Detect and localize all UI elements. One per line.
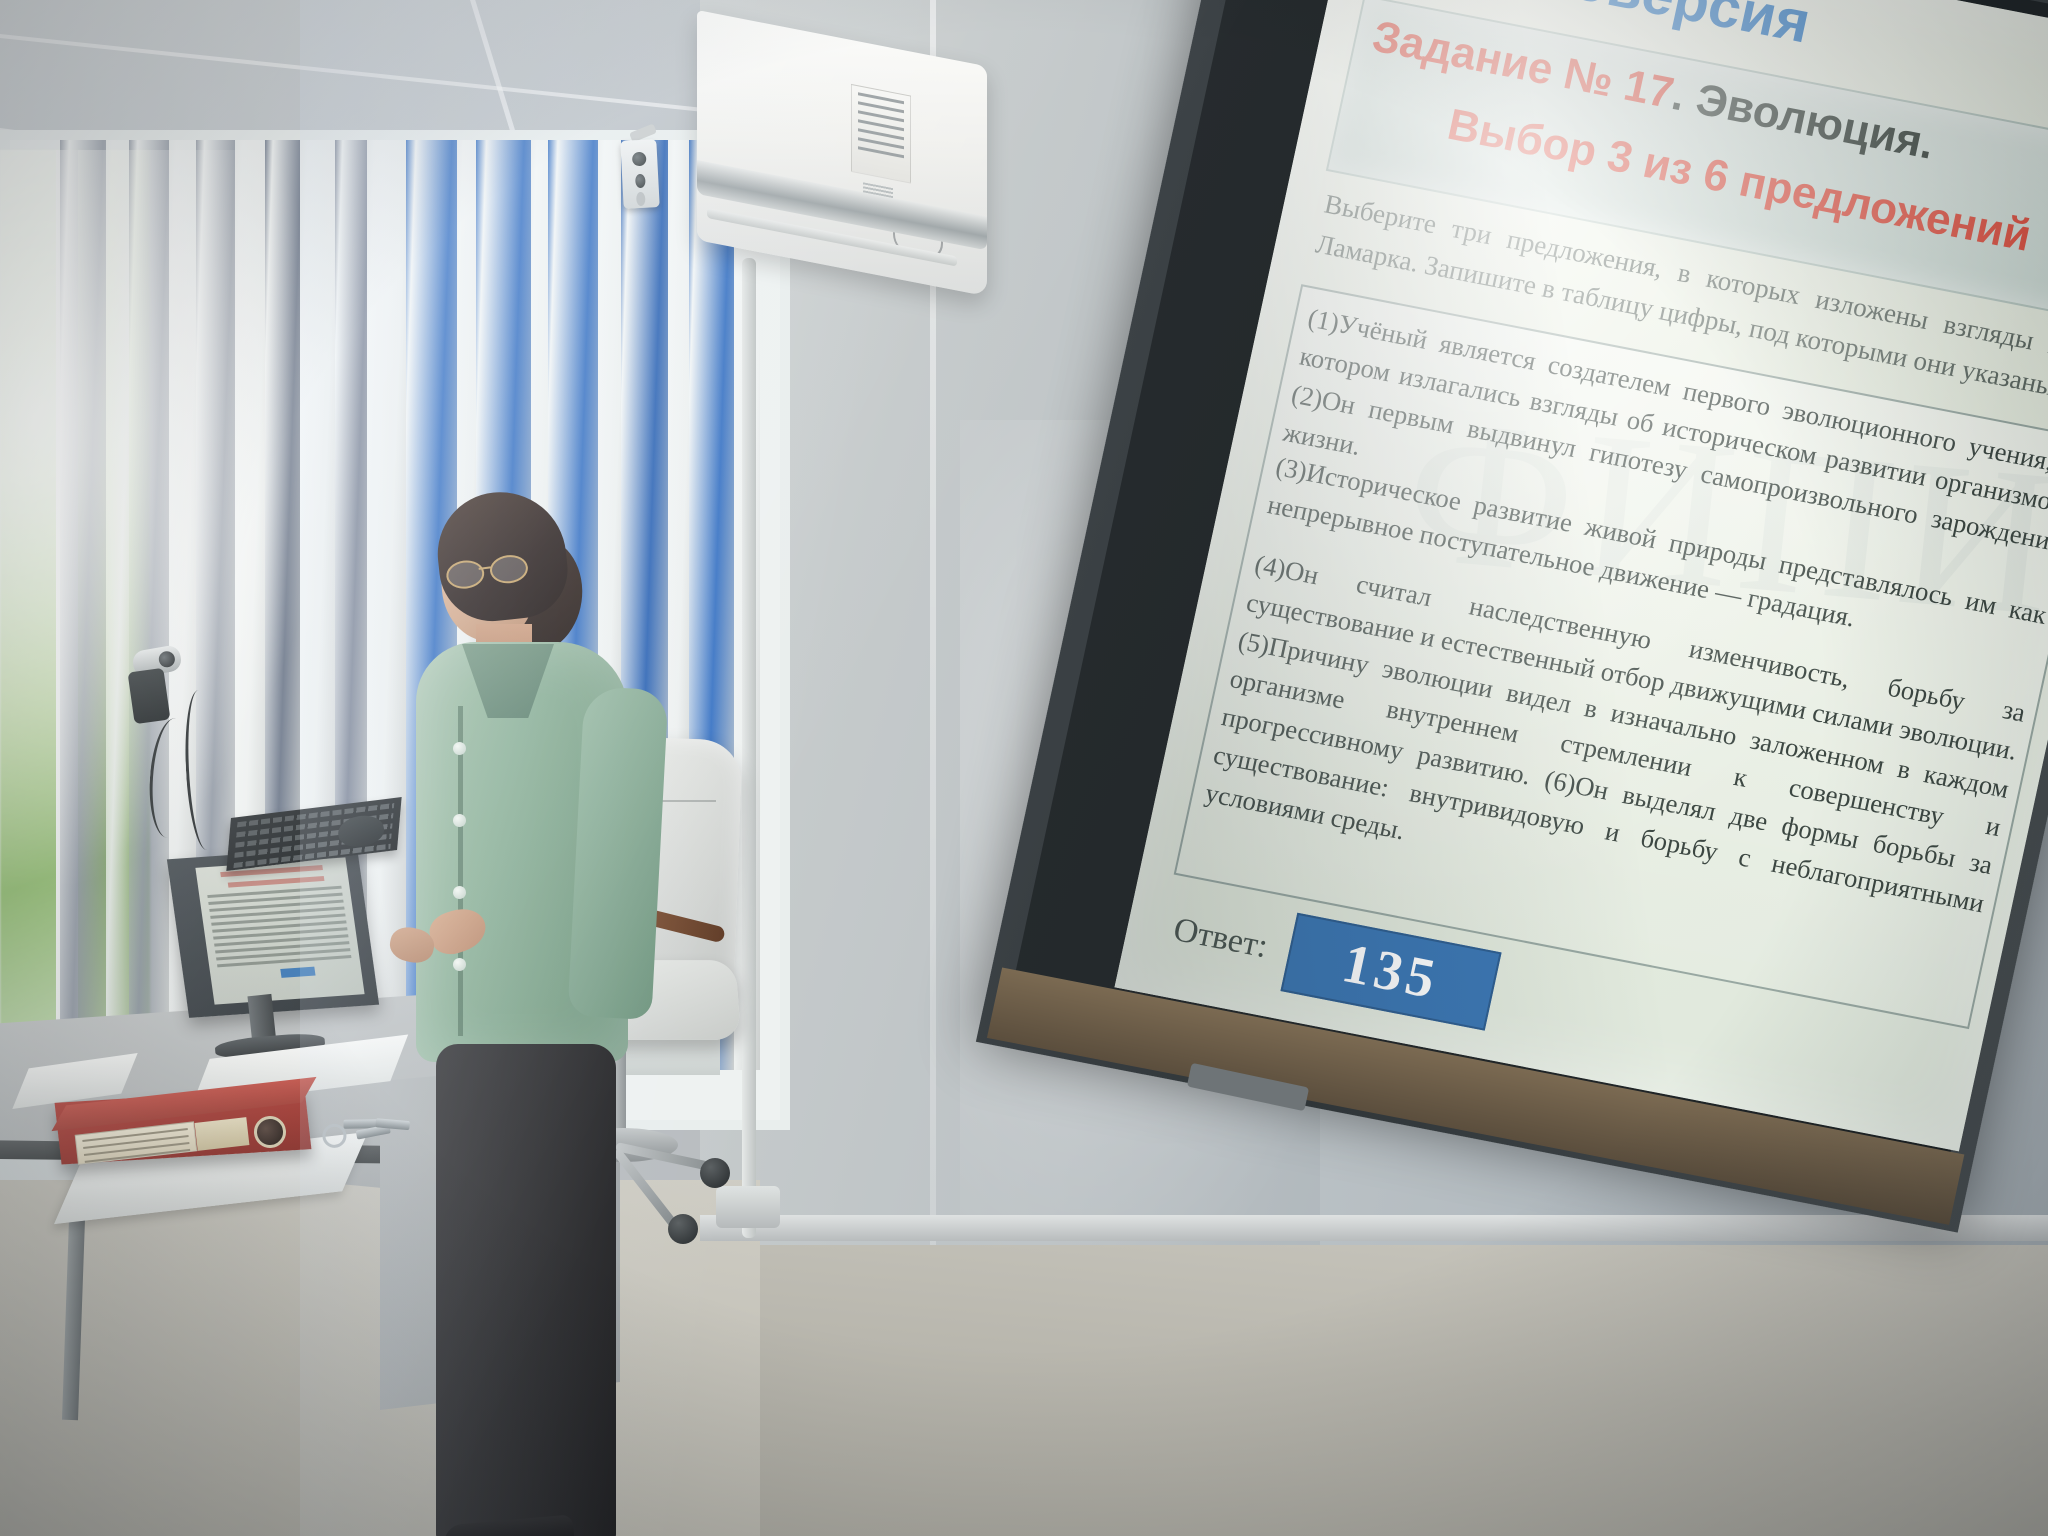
heating-pipe [742, 258, 756, 1238]
blind-slat[interactable] [106, 140, 129, 1070]
screenshot-scene: ФИПИ Демоверсия Задание № 17. Эволюция. … [0, 0, 2048, 1536]
blouse-placket [458, 706, 463, 1036]
webcam-body [128, 668, 171, 725]
blind-slat[interactable] [129, 140, 170, 1070]
heating-pipe-base [716, 1186, 780, 1228]
blouse-sleeve [567, 686, 668, 1020]
binder-spine-label-secondary [195, 1117, 250, 1151]
blouse-button [453, 742, 466, 755]
task-number: Задание № 17 [1368, 12, 1678, 118]
ceiling-sensor-icon [620, 139, 660, 209]
answer-label: Ответ: [1170, 911, 1271, 966]
blind-slat[interactable] [60, 140, 106, 1070]
trousers [436, 1044, 616, 1536]
blouse-button [453, 958, 466, 971]
air-conditioner-label [851, 84, 911, 184]
blouse-button [453, 886, 466, 899]
blouse-button [453, 814, 466, 827]
presenter-person [400, 492, 720, 1536]
monitor-screen[interactable] [195, 857, 364, 1004]
